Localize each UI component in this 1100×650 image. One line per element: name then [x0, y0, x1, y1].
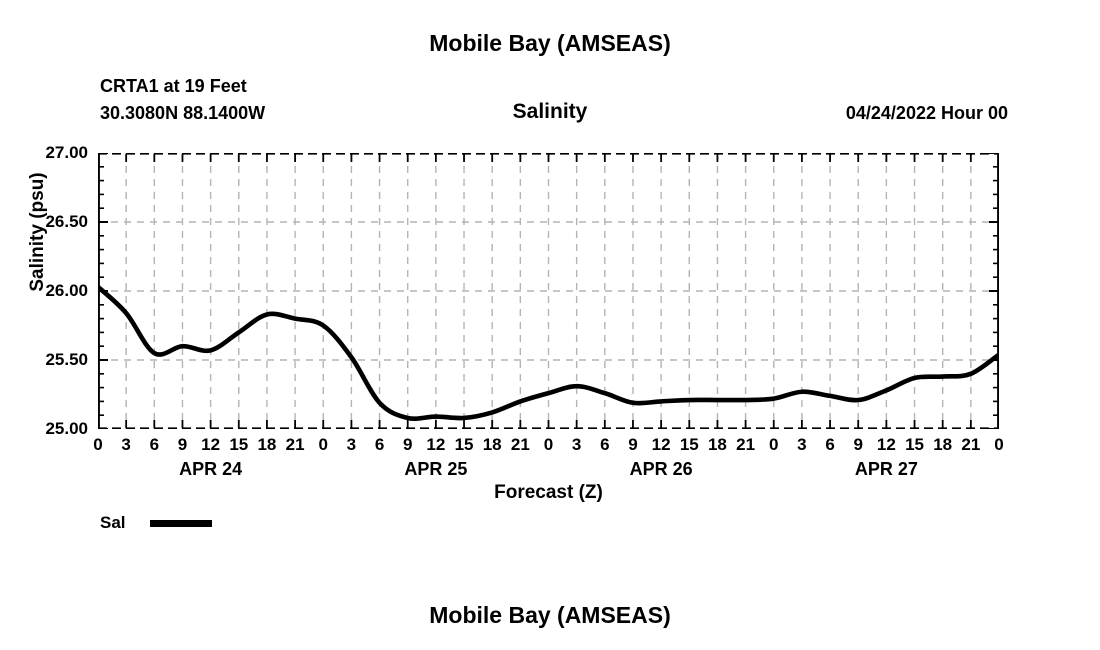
x-axis-tick-label: 15: [905, 435, 924, 455]
x-axis-tick-label: 15: [680, 435, 699, 455]
y-axis-tick-labels: Salinity (psu) 25.0025.5026.0026.5027.00: [0, 153, 88, 429]
footer-title: Mobile Bay (AMSEAS): [0, 602, 1100, 629]
x-axis-tick-label: 3: [347, 435, 356, 455]
x-axis-tick-label: 3: [572, 435, 581, 455]
x-axis-tick-label: 3: [121, 435, 130, 455]
x-axis-tick-label: 18: [483, 435, 502, 455]
x-axis-tick-label: 3: [797, 435, 806, 455]
x-axis-day-label: APR 27: [855, 459, 918, 480]
x-axis-tick-label: 21: [736, 435, 755, 455]
page-title: Mobile Bay (AMSEAS): [0, 30, 1100, 57]
x-axis-tick-label: 12: [201, 435, 220, 455]
x-axis-tick-label: 12: [426, 435, 445, 455]
x-axis-day-label: APR 25: [404, 459, 467, 480]
model-run-time: 04/24/2022 Hour 00: [846, 103, 1008, 124]
x-axis-tick-label: 0: [994, 435, 1003, 455]
x-axis-tick-label: 18: [708, 435, 727, 455]
x-axis-day-label: APR 24: [179, 459, 242, 480]
y-axis-tick-label: 27.00: [45, 143, 88, 163]
salinity-line-chart: [98, 153, 999, 429]
x-axis-day-label: APR 26: [630, 459, 693, 480]
x-axis-tick-label: 12: [877, 435, 896, 455]
x-axis-day-labels: APR 24APR 25APR 26APR 27: [98, 459, 999, 483]
x-axis-tick-label: 6: [150, 435, 159, 455]
x-axis-tick-labels: 0369121518210369121518210369121518210369…: [98, 435, 999, 459]
x-axis-tick-label: 15: [455, 435, 474, 455]
x-axis-tick-label: 9: [403, 435, 412, 455]
x-axis-tick-label: 0: [544, 435, 553, 455]
station-label: CRTA1 at 19 Feet: [100, 76, 247, 97]
y-axis-tick-label: 25.00: [45, 419, 88, 439]
x-axis-tick-label: 21: [511, 435, 530, 455]
x-axis-tick-label: 18: [933, 435, 952, 455]
x-axis-tick-label: 0: [769, 435, 778, 455]
x-axis-tick-label: 6: [375, 435, 384, 455]
x-axis-tick-label: 6: [600, 435, 609, 455]
x-axis-tick-label: 21: [286, 435, 305, 455]
x-axis-tick-label: 9: [628, 435, 637, 455]
legend-line-swatch: [150, 520, 212, 527]
x-axis-title: Forecast (Z): [98, 482, 999, 504]
x-axis-tick-label: 0: [319, 435, 328, 455]
x-axis-tick-label: 18: [257, 435, 276, 455]
x-axis-tick-label: 0: [93, 435, 102, 455]
x-axis-tick-label: 21: [961, 435, 980, 455]
y-axis-tick-label: 25.50: [45, 350, 88, 370]
x-axis-tick-label: 9: [853, 435, 862, 455]
x-axis-tick-label: 9: [178, 435, 187, 455]
chart-legend: Sal: [100, 510, 212, 536]
x-axis-tick-label: 6: [825, 435, 834, 455]
chart-plot-area: [98, 153, 999, 429]
y-axis-tick-label: 26.00: [45, 281, 88, 301]
x-axis-tick-label: 15: [229, 435, 248, 455]
legend-item-label: Sal: [100, 513, 126, 533]
y-axis-tick-label: 26.50: [45, 212, 88, 232]
x-axis-tick-label: 12: [652, 435, 671, 455]
